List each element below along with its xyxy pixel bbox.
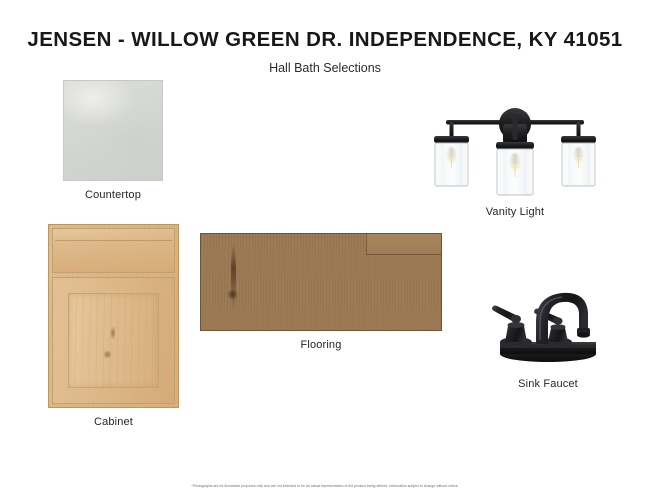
page-title: JENSEN - WILLOW GREEN DR. INDEPENDENCE, … [0, 28, 650, 52]
flooring-knot [227, 289, 238, 300]
cabinet-drawer [52, 228, 175, 273]
flooring-knot-streak [231, 244, 236, 312]
selection-item-cabinet[interactable]: Cabinet [48, 224, 179, 428]
selection-item-vanity-light[interactable]: Vanity Light [420, 106, 610, 218]
cabinet-center-panel [68, 293, 159, 388]
cabinet-wood-knot [110, 326, 116, 340]
sink-faucet-label: Sink Faucet [478, 378, 618, 390]
vanity-light-label: Vanity Light [420, 206, 610, 218]
flooring-swatch-image [200, 233, 442, 331]
selection-item-flooring[interactable]: Flooring [200, 233, 442, 351]
flooring-plank-seam [366, 234, 441, 255]
sink-faucet-svg [478, 278, 618, 370]
vanity-light-svg [420, 106, 610, 198]
countertop-label: Countertop [63, 189, 163, 201]
cabinet-image [48, 224, 179, 408]
countertop-swatch-image [63, 80, 163, 181]
footer-disclaimer: *Photographs are for illustrative purpos… [0, 484, 650, 488]
selection-item-sink-faucet[interactable]: Sink Faucet [478, 278, 618, 390]
cabinet-wood-knot-2 [103, 350, 112, 359]
page-subtitle: Hall Bath Selections [0, 61, 650, 75]
selection-item-countertop[interactable]: Countertop [63, 80, 163, 201]
page-header: JENSEN - WILLOW GREEN DR. INDEPENDENCE, … [0, 0, 650, 75]
vanity-light-image [420, 106, 610, 198]
flooring-label: Flooring [200, 339, 442, 351]
sink-faucet-image [478, 278, 618, 370]
cabinet-door [52, 277, 175, 404]
cabinet-label: Cabinet [48, 416, 179, 428]
